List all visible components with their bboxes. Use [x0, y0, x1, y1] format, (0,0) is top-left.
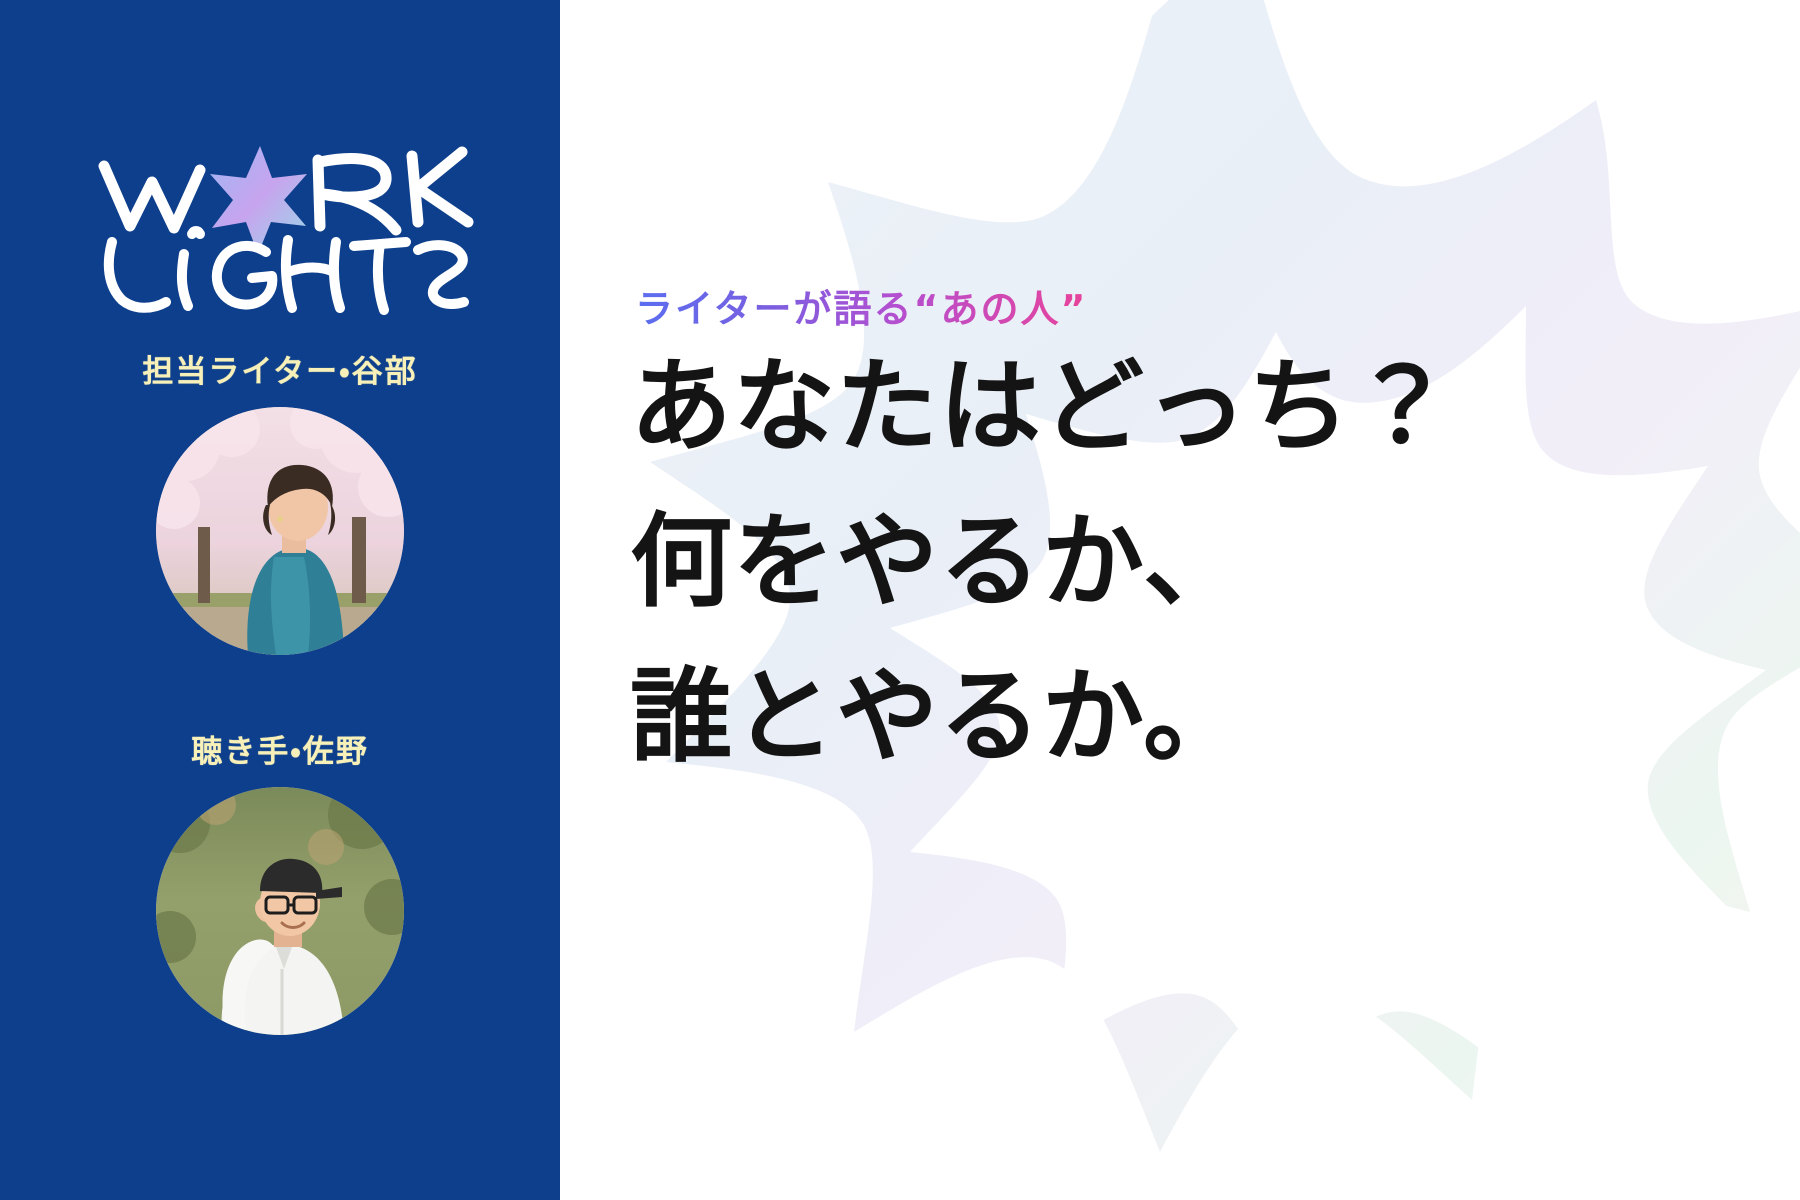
credit-listener: 聴き手・佐野 — [0, 735, 560, 1035]
credit-listener-label: 聴き手・佐野 — [0, 735, 560, 769]
brand-logo[interactable] — [88, 130, 478, 320]
credit-writer: 担当ライター・谷部 — [0, 355, 560, 655]
article-headline: あなたはどっち？ 何をやるか、 誰とやるか。 — [630, 330, 1750, 795]
headline-line-2: 何をやるか、 — [630, 485, 1750, 640]
credit-writer-label: 担当ライター・谷部 — [0, 355, 560, 389]
headline-line-1: あなたはどっち？ — [630, 330, 1750, 485]
article-eyebrow: ライターが語る“あの人” — [635, 278, 1087, 333]
avatar-writer-tanabe — [156, 407, 404, 655]
left-sidebar: 担当ライター・谷部 — [0, 0, 560, 1200]
page-root: 担当ライター・谷部 — [0, 0, 1800, 1200]
article-content: ライターが語る“あの人” あなたはどっち？ 何をやるか、 誰とやるか。 — [560, 0, 1800, 1200]
headline-line-3: 誰とやるか。 — [630, 640, 1750, 795]
avatar-listener-sano — [156, 787, 404, 1035]
